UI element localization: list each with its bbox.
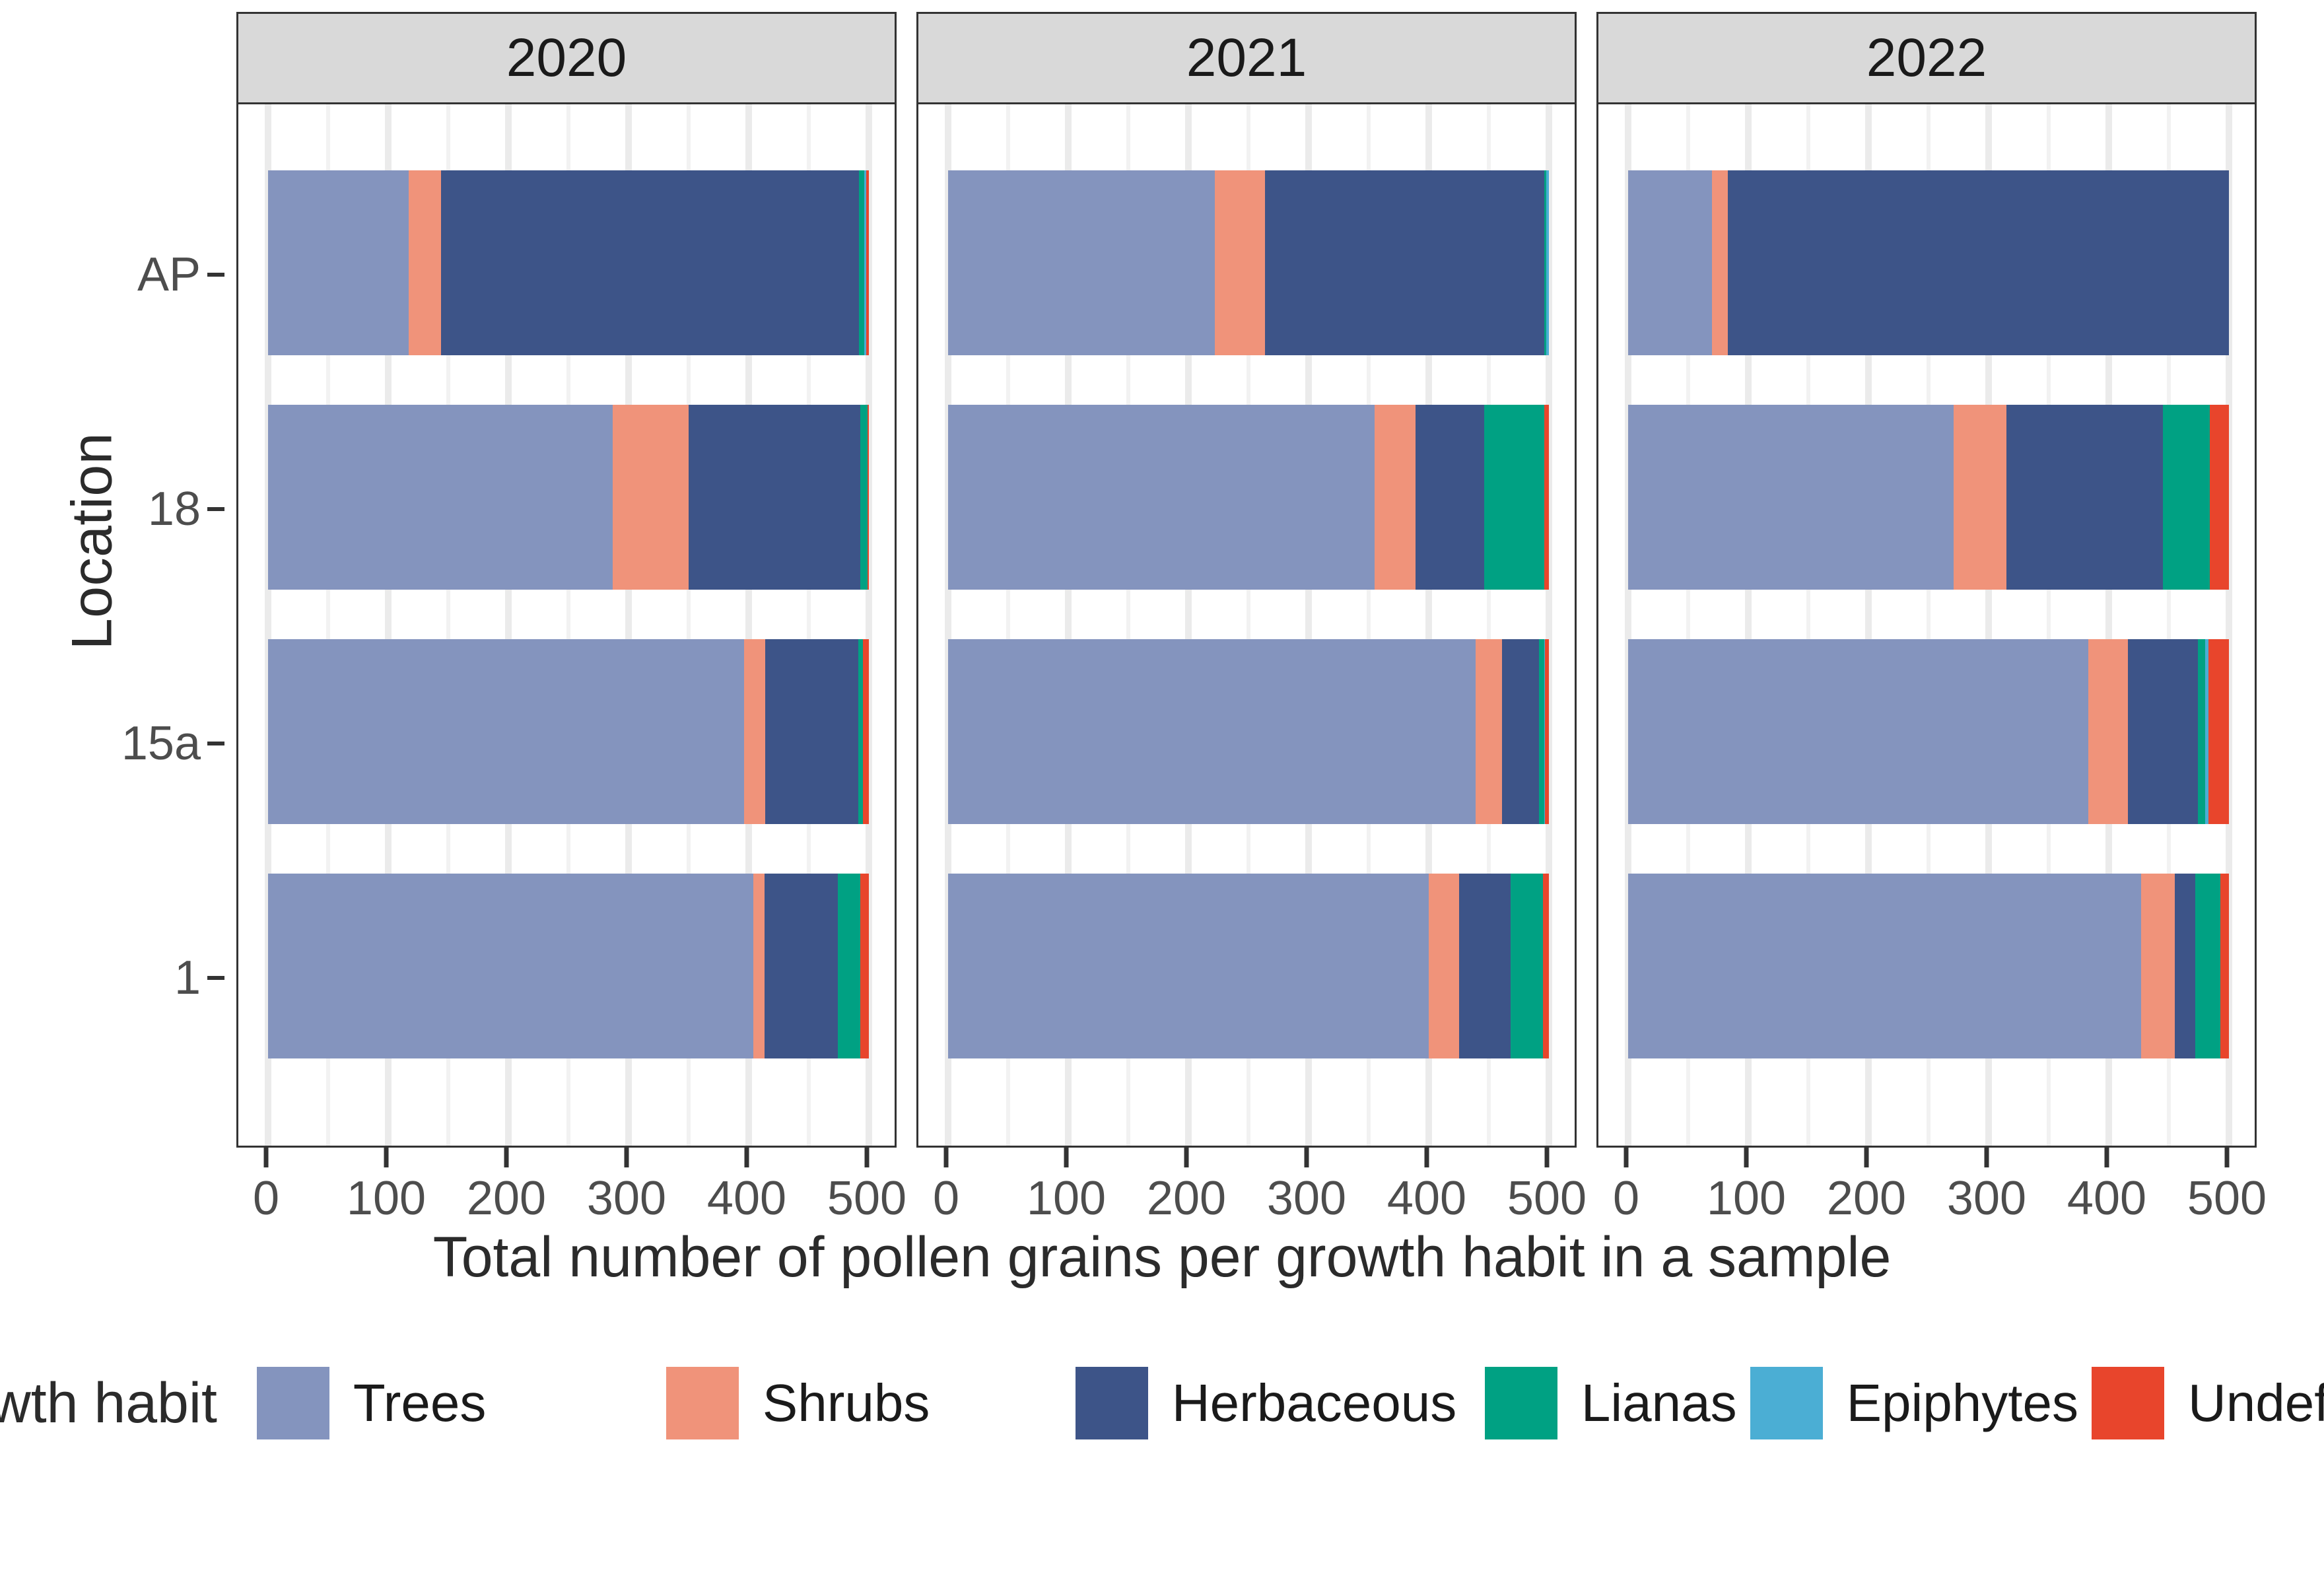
x-tick-label: 300: [1267, 1171, 1346, 1226]
bar-segment-lianas[interactable]: [2198, 639, 2205, 824]
bar-row-15a[interactable]: [948, 639, 1549, 824]
legend-items: TreesShrubsHerbaceousLianasEpiphytesUnde…: [257, 1360, 2324, 1446]
x-tick-mark: [264, 1148, 269, 1167]
plot-area: [918, 104, 1575, 1146]
bar-segment-shrubs[interactable]: [744, 639, 766, 824]
bar-segment-undefined[interactable]: [863, 639, 869, 824]
x-tick-label: 500: [827, 1171, 906, 1226]
legend-swatch-icon: [257, 1367, 329, 1439]
legend-label: Undefined: [2188, 1373, 2324, 1434]
bar-segment-trees[interactable]: [268, 874, 753, 1058]
bar-row-15a[interactable]: [268, 639, 869, 824]
x-tick-mark: [865, 1148, 870, 1167]
bar-segment-shrubs[interactable]: [1429, 874, 1459, 1058]
bar-row-1[interactable]: [948, 874, 1549, 1058]
bar-row-1[interactable]: [1628, 874, 2229, 1058]
x-tick-mark: [1184, 1148, 1189, 1167]
bar-segment-shrubs[interactable]: [1712, 170, 1728, 355]
bar-segment-trees[interactable]: [948, 874, 1429, 1058]
facet-strip-label: 2020: [506, 27, 627, 89]
bar-segment-herbaceous[interactable]: [1459, 874, 1511, 1058]
x-axis-2021: 0100200300400500: [916, 1148, 1577, 1233]
bar-segment-shrubs[interactable]: [1375, 405, 1416, 590]
legend-swatch-icon: [1750, 1367, 1823, 1439]
legend-swatch-icon: [1076, 1367, 1148, 1439]
bar-segment-shrubs[interactable]: [2141, 874, 2175, 1058]
panel-2022: [1596, 104, 2257, 1148]
bar-segment-trees[interactable]: [948, 405, 1375, 590]
bar-segment-shrubs[interactable]: [2088, 639, 2128, 824]
x-axis-2020: 0100200300400500: [236, 1148, 897, 1233]
legend-label: Herbaceous: [1172, 1373, 1456, 1434]
x-tick-label: 0: [1613, 1171, 1639, 1226]
bar-row-18[interactable]: [268, 405, 869, 590]
bar-segment-lianas[interactable]: [859, 170, 864, 355]
legend-swatch-icon: [1485, 1367, 1557, 1439]
facet-strip-2021: 2021: [916, 12, 1577, 104]
bar-segment-undefined[interactable]: [2210, 405, 2229, 590]
facet-2022: 20220100200300400500: [1596, 12, 2257, 1233]
bar-segment-trees[interactable]: [948, 170, 1215, 355]
x-tick-label: 200: [467, 1171, 546, 1226]
x-tick-label: 500: [1507, 1171, 1587, 1226]
facet-strip-label: 2021: [1186, 27, 1307, 89]
y-tick-mark: [207, 273, 224, 277]
legend-title: Growth habit: [0, 1371, 217, 1436]
bar-row-AP[interactable]: [1628, 170, 2229, 355]
x-tick-mark: [1985, 1148, 1989, 1167]
x-tick-mark: [1624, 1148, 1629, 1167]
bar-segment-herbaceous[interactable]: [1728, 170, 2229, 355]
x-tick-mark: [745, 1148, 749, 1167]
bar-row-1[interactable]: [268, 874, 869, 1058]
bar-segment-lianas[interactable]: [860, 405, 868, 590]
legend-item-shrubs[interactable]: Shrubs: [666, 1367, 1062, 1439]
x-tick-label: 300: [1947, 1171, 2026, 1226]
bar-segment-shrubs[interactable]: [613, 405, 689, 590]
bar-segment-undefined[interactable]: [866, 170, 869, 355]
bar-segment-lianas[interactable]: [1511, 874, 1543, 1058]
bar-segment-undefined[interactable]: [1545, 639, 1548, 824]
legend-swatch-icon: [666, 1367, 739, 1439]
bar-segment-trees[interactable]: [1628, 405, 1954, 590]
bar-segment-undefined[interactable]: [2220, 874, 2229, 1058]
x-axis-title: Total number of pollen grains per growth…: [0, 1225, 2324, 1290]
x-tick-label: 200: [1147, 1171, 1226, 1226]
x-tick-label: 300: [587, 1171, 666, 1226]
bar-segment-lianas[interactable]: [1539, 639, 1544, 824]
x-tick-mark: [2105, 1148, 2109, 1167]
facet-strip-2020: 2020: [236, 12, 897, 104]
bar-segment-herbaceous[interactable]: [1416, 405, 1484, 590]
legend: Growth habit TreesShrubsHerbaceousLianas…: [0, 1360, 2324, 1446]
x-tick-label: 200: [1827, 1171, 1906, 1226]
legend-label: Shrubs: [763, 1373, 930, 1434]
x-tick-label: 400: [2067, 1171, 2146, 1226]
y-tick-mark: [207, 976, 224, 980]
legend-label: Lianas: [1581, 1373, 1737, 1434]
x-tick-label: 500: [2187, 1171, 2267, 1226]
panel-2021: [916, 104, 1577, 1148]
bar-segment-undefined[interactable]: [860, 874, 869, 1058]
x-tick-label: 100: [347, 1171, 426, 1226]
x-tick-mark: [2225, 1148, 2230, 1167]
bar-segment-trees[interactable]: [1628, 639, 2088, 824]
bar-segment-trees[interactable]: [268, 639, 744, 824]
bar-segment-herbaceous[interactable]: [441, 170, 859, 355]
bar-segment-epiphytes[interactable]: [1546, 170, 1549, 355]
x-tick-label: 100: [1027, 1171, 1106, 1226]
bar-segment-undefined[interactable]: [1543, 874, 1549, 1058]
legend-item-epiphytes[interactable]: Epiphytes: [1750, 1367, 2078, 1439]
bar-segment-shrubs[interactable]: [1954, 405, 2006, 590]
x-tick-label: 0: [253, 1171, 279, 1226]
legend-label: Trees: [353, 1373, 487, 1434]
bar-segment-lianas[interactable]: [2163, 405, 2210, 590]
bar-segment-trees[interactable]: [948, 639, 1476, 824]
plot-area: [238, 104, 895, 1146]
bar-segment-undefined[interactable]: [1544, 405, 1549, 590]
x-tick-mark: [1305, 1148, 1309, 1167]
bar-segment-shrubs[interactable]: [753, 874, 764, 1058]
bar-row-AP[interactable]: [268, 170, 869, 355]
bar-segment-herbaceous[interactable]: [689, 405, 860, 590]
x-tick-mark: [944, 1148, 949, 1167]
x-tick-mark: [1864, 1148, 1869, 1167]
chart-page: Location AP1815a1 2020010020030040050020…: [0, 0, 2324, 1592]
bar-segment-lianas[interactable]: [858, 639, 863, 824]
bar-segment-trees[interactable]: [268, 405, 613, 590]
x-tick-mark: [1545, 1148, 1550, 1167]
x-tick-label: 0: [933, 1171, 959, 1226]
y-tick-label-AP: AP: [137, 248, 201, 302]
facet-strip-label: 2022: [1866, 27, 1987, 89]
facet-2020: 20200100200300400500: [236, 12, 897, 1233]
bar-segment-lianas[interactable]: [838, 874, 861, 1058]
bar-segment-lianas[interactable]: [1484, 405, 1544, 590]
bar-segment-trees[interactable]: [268, 170, 409, 355]
bar-segment-herbaceous[interactable]: [2175, 874, 2195, 1058]
x-tick-mark: [384, 1148, 389, 1167]
x-tick-mark: [1744, 1148, 1749, 1167]
x-tick-mark: [625, 1148, 629, 1167]
y-tick-label-15a: 15a: [121, 716, 201, 771]
x-tick-mark: [504, 1148, 509, 1167]
legend-item-herbaceous[interactable]: Herbaceous: [1076, 1367, 1472, 1439]
bar-segment-undefined[interactable]: [868, 405, 869, 590]
panel-2020: [236, 104, 897, 1148]
plot-area: [1598, 104, 2255, 1146]
legend-item-trees[interactable]: Trees: [257, 1367, 653, 1439]
y-axis-ticks: AP1815a1: [92, 132, 224, 1123]
y-tick-mark: [207, 507, 224, 511]
x-tick-mark: [1425, 1148, 1429, 1167]
bar-segment-herbaceous[interactable]: [765, 874, 838, 1058]
facet-strip-2022: 2022: [1596, 12, 2257, 104]
y-tick-mark: [207, 742, 224, 745]
bar-segment-trees[interactable]: [1628, 170, 1712, 355]
facet-grid: 2020010020030040050020210100200300400500…: [236, 12, 2257, 1233]
bar-segment-herbaceous[interactable]: [2006, 405, 2163, 590]
bar-segment-lianas[interactable]: [2195, 874, 2220, 1058]
x-tick-mark: [1064, 1148, 1069, 1167]
bar-row-18[interactable]: [948, 405, 1549, 590]
bar-row-18[interactable]: [1628, 405, 2229, 590]
bar-segment-herbaceous[interactable]: [1265, 170, 1544, 355]
bar-segment-herbaceous[interactable]: [2128, 639, 2198, 824]
bar-segment-shrubs[interactable]: [1476, 639, 1502, 824]
bar-segment-shrubs[interactable]: [1215, 170, 1265, 355]
bar-segment-trees[interactable]: [1628, 874, 2141, 1058]
bar-segment-shrubs[interactable]: [409, 170, 441, 355]
legend-item-lianas[interactable]: Lianas: [1485, 1367, 1737, 1439]
x-axis-2022: 0100200300400500: [1596, 1148, 2257, 1233]
facet-2021: 20210100200300400500: [916, 12, 1577, 1233]
y-tick-label-18: 18: [148, 482, 201, 536]
x-tick-label: 100: [1707, 1171, 1786, 1226]
bar-segment-herbaceous[interactable]: [765, 639, 858, 824]
legend-swatch-icon: [2092, 1367, 2164, 1439]
x-tick-label: 400: [707, 1171, 786, 1226]
bar-row-AP[interactable]: [948, 170, 1549, 355]
bar-row-15a[interactable]: [1628, 639, 2229, 824]
x-tick-label: 400: [1387, 1171, 1466, 1226]
y-tick-label-1: 1: [174, 951, 201, 1005]
bar-segment-herbaceous[interactable]: [1502, 639, 1539, 824]
legend-item-undefined[interactable]: Undefined: [2092, 1367, 2324, 1439]
legend-label: Epiphytes: [1847, 1373, 2078, 1434]
bar-segment-undefined[interactable]: [2208, 639, 2229, 824]
